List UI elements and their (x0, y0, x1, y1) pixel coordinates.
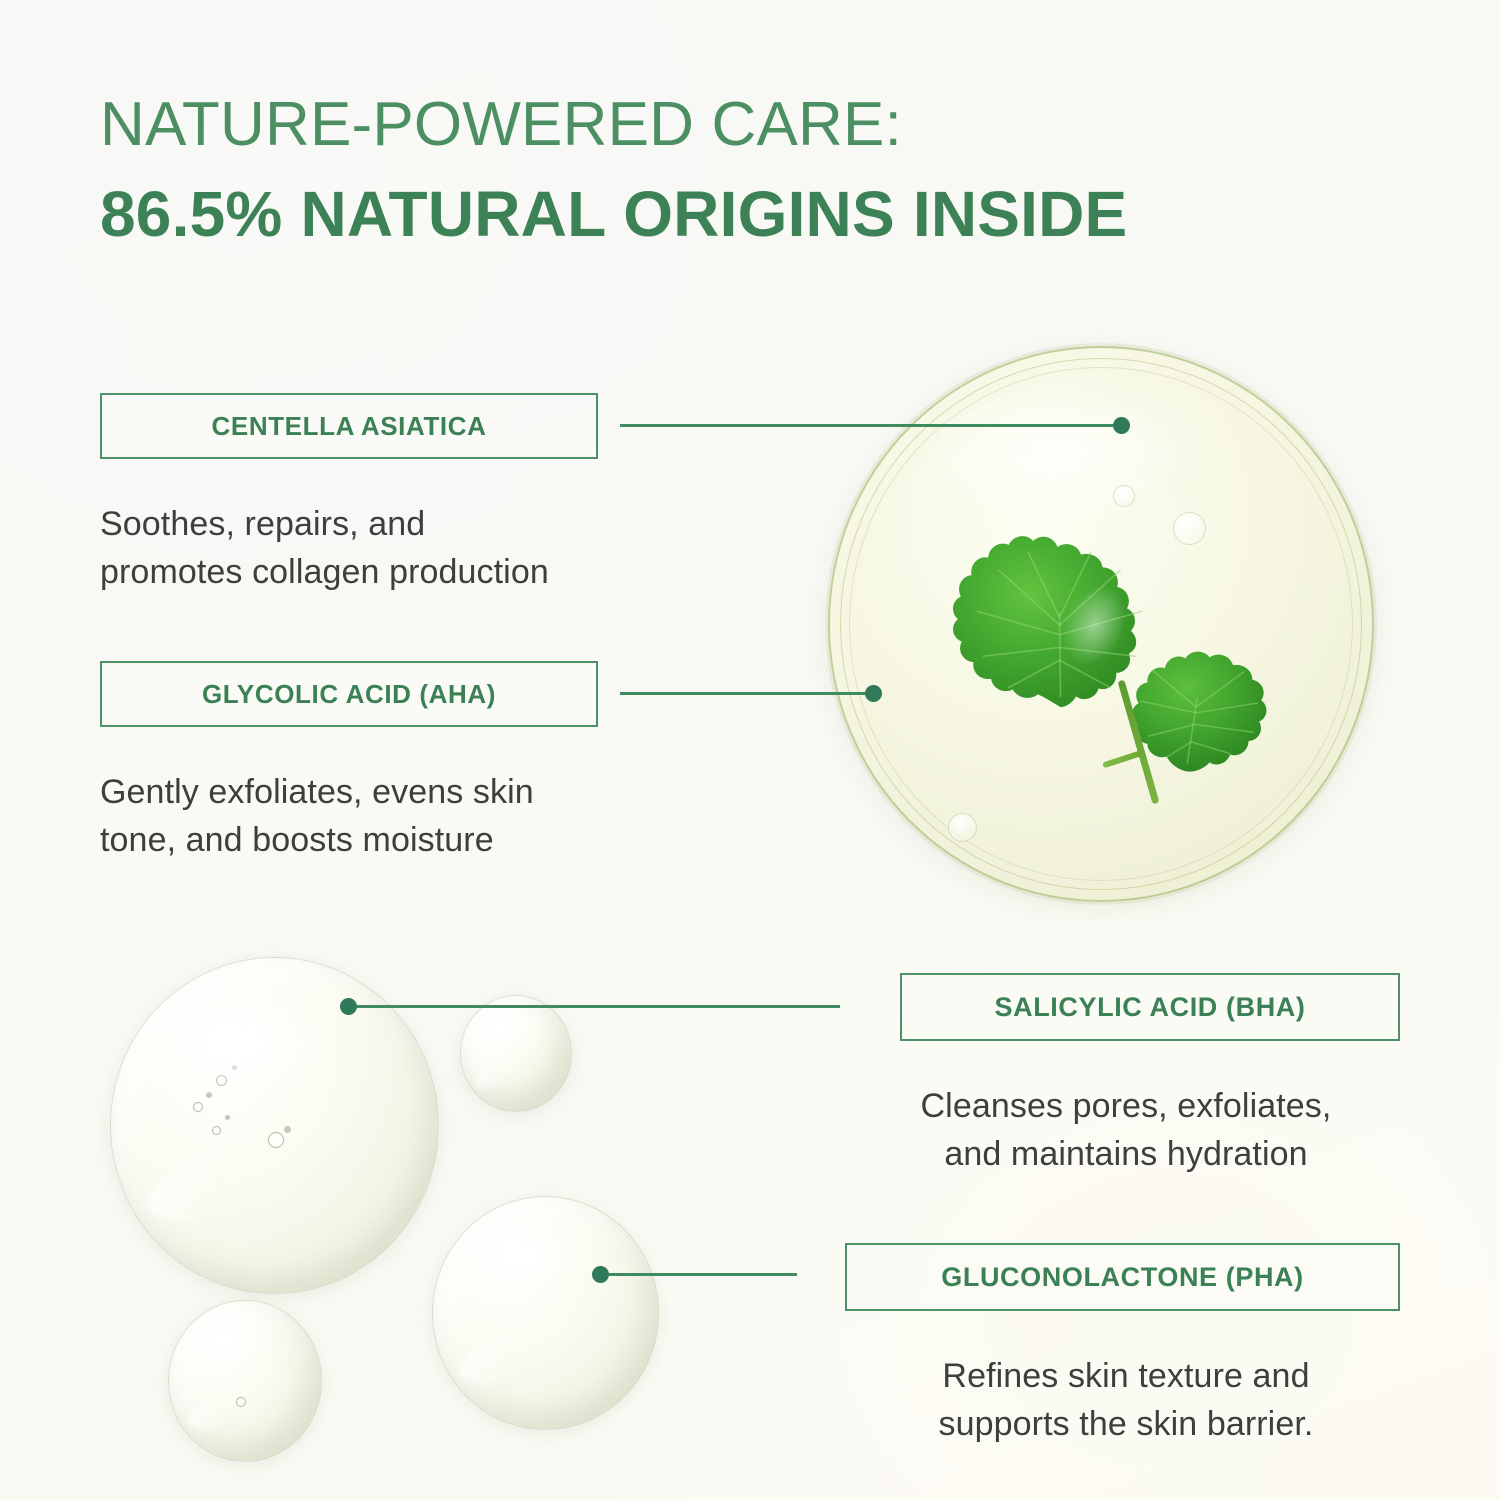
description-line: supports the skin barrier. (846, 1400, 1406, 1448)
ingredient-label-salicylic[interactable]: SALICYLIC ACID (BHA) (900, 973, 1400, 1041)
connector-line-gluconolactone (600, 1273, 797, 1276)
description-line: Refines skin texture and (846, 1352, 1406, 1400)
droplet-highlight (184, 1386, 257, 1436)
infographic-canvas: NATURE-POWERED CARE: 86.5% NATURAL ORIGI… (0, 0, 1500, 1500)
ingredient-label-text: GLYCOLIC ACID (AHA) (202, 679, 496, 710)
ingredient-description-gluconolactone: Refines skin texture and supports the sk… (846, 1352, 1406, 1449)
ingredient-label-centella[interactable]: CENTELLA ASIATICA (100, 393, 598, 459)
gel-microbubble-icon (193, 1102, 203, 1112)
gel-droplet-small-bottom (168, 1300, 322, 1462)
droplet-highlight (451, 1319, 558, 1395)
ingredient-label-text: SALICYLIC ACID (BHA) (995, 992, 1306, 1023)
ingredient-label-text: GLUCONOLACTONE (PHA) (941, 1262, 1304, 1293)
liquid-bubble-icon (948, 813, 977, 842)
heading-block: NATURE-POWERED CARE: 86.5% NATURAL ORIGI… (100, 94, 1380, 246)
connector-line-glycolic (620, 692, 875, 695)
gel-droplet-medium (432, 1196, 659, 1430)
droplet-highlight (472, 1057, 525, 1093)
connector-line-salicylic (348, 1005, 840, 1008)
description-line: Soothes, repairs, and (100, 500, 760, 548)
petri-dish-glass (828, 346, 1374, 902)
heading-line-2: 86.5% NATURAL ORIGINS INSIDE (100, 182, 1380, 246)
gel-droplet-small-top (460, 995, 572, 1112)
ingredient-description-centella: Soothes, repairs, and promotes collagen … (100, 500, 760, 597)
centella-leaf-small-icon (1127, 598, 1302, 778)
gel-microbubble-icon (236, 1397, 246, 1407)
description-line: tone, and boosts moisture (100, 816, 760, 864)
droplet-highlight (137, 1127, 287, 1238)
gel-microdot (284, 1126, 291, 1133)
gel-microdot (225, 1115, 230, 1120)
ingredient-label-gluconolactone[interactable]: GLUCONOLACTONE (PHA) (845, 1243, 1400, 1311)
description-line: promotes collagen production (100, 548, 760, 596)
description-line: Cleanses pores, exfoliates, (846, 1082, 1406, 1130)
gel-microbubble-icon (268, 1132, 284, 1148)
gel-microbubble-icon (216, 1075, 227, 1086)
connector-dot-centella (1113, 417, 1130, 434)
gel-microbubble-icon (212, 1126, 221, 1135)
ingredient-description-glycolic: Gently exfoliates, evens skin tone, and … (100, 768, 760, 865)
gel-microdot (206, 1092, 212, 1098)
connector-dot-gluconolactone (592, 1266, 609, 1283)
ingredient-label-text: CENTELLA ASIATICA (212, 411, 487, 442)
ingredient-description-salicylic: Cleanses pores, exfoliates, and maintain… (846, 1082, 1406, 1179)
description-line: and maintains hydration (846, 1130, 1406, 1178)
connector-dot-glycolic (865, 685, 882, 702)
petri-dish-image (828, 346, 1374, 902)
connector-dot-salicylic (340, 998, 357, 1015)
ingredient-label-glycolic[interactable]: GLYCOLIC ACID (AHA) (100, 661, 598, 727)
connector-line-centella (620, 424, 1122, 427)
gel-microdot (232, 1065, 237, 1070)
heading-line-1: NATURE-POWERED CARE: (100, 94, 1380, 156)
description-line: Gently exfoliates, evens skin (100, 768, 760, 816)
liquid-bubble-icon (1173, 512, 1206, 545)
